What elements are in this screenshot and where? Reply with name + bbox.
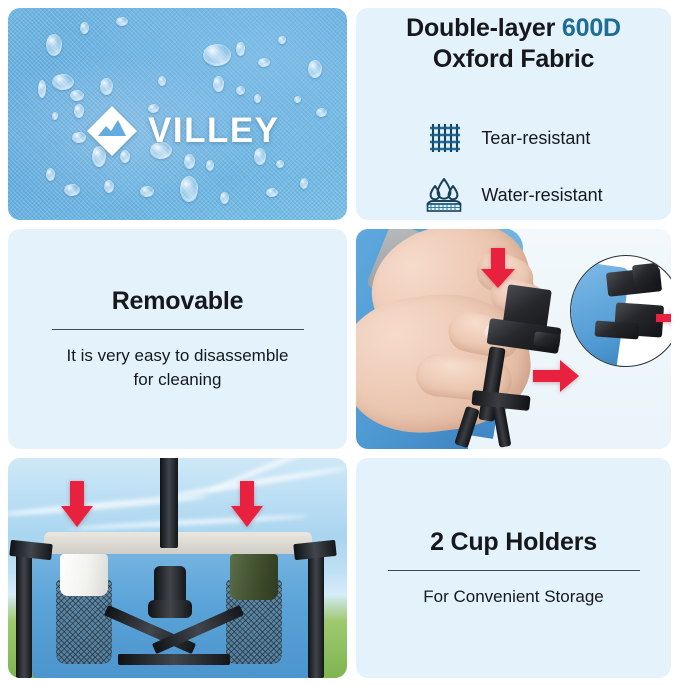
water-droplet: [100, 78, 113, 95]
water-droplet: [46, 34, 62, 56]
wagon-frame-left: [16, 544, 32, 678]
removable-text-panel: Removable It is very easy to disassemble…: [8, 229, 347, 449]
wagon-frame-leg: [493, 406, 512, 447]
removable-subtitle: It is very easy to disassemble for clean…: [66, 344, 288, 392]
water-droplet: [206, 160, 214, 171]
brand-logo: VILLEY: [86, 105, 280, 157]
divider-rule: [52, 329, 304, 330]
water-droplet: [276, 160, 284, 168]
water-droplet: [294, 96, 301, 103]
down-arrow-icon: [60, 480, 94, 528]
water-droplet: [70, 90, 84, 101]
removable-title: Removable: [112, 286, 244, 317]
diamond-mountain-logo-icon: [86, 105, 138, 157]
water-droplet: [220, 192, 229, 204]
water-droplet: [278, 36, 286, 44]
cupholder-subtitle: For Convenient Storage: [423, 585, 604, 609]
panel-grid: VILLEY Double-layer 600D Oxford Fabric: [8, 8, 671, 678]
buckle-release-photo: [356, 229, 671, 449]
fabric-title-line1-plain: Double-layer: [406, 14, 562, 42]
water-droplet: [258, 58, 270, 67]
water-droplet: [158, 76, 166, 86]
water-droplets-icon: [424, 175, 464, 215]
inset-right-arrow-icon: [655, 308, 671, 328]
water-droplet: [80, 22, 89, 34]
water-droplet: [64, 184, 80, 196]
cupholder-title: 2 Cup Holders: [430, 527, 597, 558]
water-droplet: [236, 86, 245, 95]
feature-water-resistant: Water-resistant: [424, 175, 602, 215]
wagon-bottom-bar: [118, 654, 230, 665]
inset-buckle-strap: [594, 320, 639, 339]
buckle-closeup-inset: [570, 255, 671, 367]
cupholder-text-panel: 2 Cup Holders For Convenient Storage: [356, 458, 671, 678]
water-droplet: [236, 42, 245, 56]
inset-buckle-top-tab: [632, 263, 660, 288]
water-droplet: [316, 108, 327, 117]
divider-rule: [388, 570, 640, 571]
water-droplet: [203, 44, 231, 66]
water-droplet: [308, 60, 322, 78]
water-droplet: [74, 104, 84, 118]
water-droplet: [300, 178, 308, 189]
feature-list: Tear-resistant Water-resis: [424, 118, 602, 215]
green-cup: [230, 554, 278, 600]
water-droplet: [52, 74, 74, 90]
water-droplet: [266, 188, 278, 197]
wagon-handle-post: [160, 458, 178, 548]
water-droplet: [140, 186, 154, 197]
down-arrow-icon: [480, 247, 516, 289]
wagon-frame-right: [308, 544, 324, 678]
water-droplet: [46, 168, 55, 181]
fabric-title-accent-600d: 600D: [562, 14, 621, 42]
cloud-streak: [68, 514, 308, 532]
water-droplet: [72, 132, 86, 143]
wagon-center-bracket: [148, 600, 192, 618]
waterproof-fabric-photo: VILLEY: [8, 8, 347, 220]
fabric-text-panel: Double-layer 600D Oxford Fabric Tear-res: [356, 8, 671, 220]
fabric-title-line2: Oxford Fabric: [433, 45, 594, 73]
water-droplet: [38, 80, 46, 98]
white-cup: [60, 554, 108, 596]
cup-holders-photo: [8, 458, 347, 678]
removable-subtitle-line1: It is very easy to disassemble: [66, 346, 288, 365]
water-droplet: [180, 176, 198, 202]
water-droplet: [52, 112, 58, 120]
water-droplet: [254, 94, 261, 103]
water-droplet: [213, 76, 224, 92]
feature-tear-resistant: Tear-resistant: [424, 118, 602, 158]
woven-mesh-icon: [424, 118, 464, 158]
wagon-frame-right-top: [293, 540, 336, 560]
water-droplet: [104, 180, 114, 193]
infographic-sheet: VILLEY Double-layer 600D Oxford Fabric: [0, 0, 679, 686]
feature-label: Water-resistant: [481, 185, 602, 206]
feature-label: Tear-resistant: [481, 128, 590, 149]
water-droplet: [116, 17, 128, 26]
fabric-title: Double-layer 600D Oxford Fabric: [406, 13, 621, 74]
brand-logo-text: VILLEY: [148, 111, 280, 151]
down-arrow-icon: [230, 480, 264, 528]
removable-subtitle-line2: for cleaning: [134, 370, 222, 389]
